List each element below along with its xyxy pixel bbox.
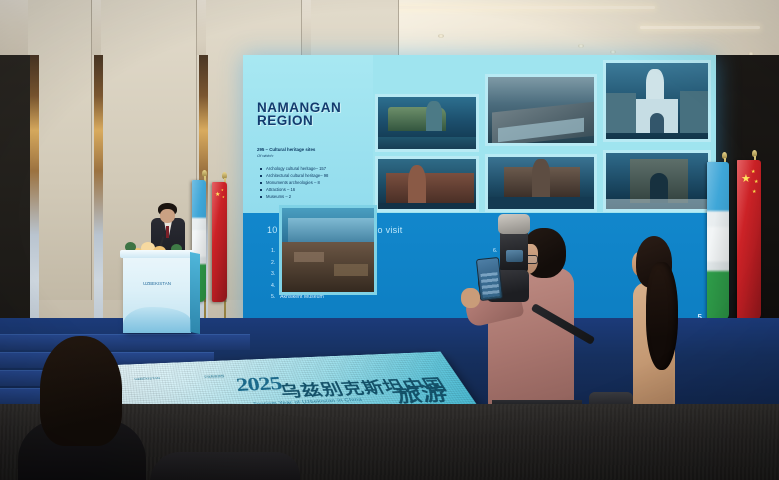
downlight-icon [578, 44, 584, 48]
heritage-photo [603, 60, 711, 142]
podium-wave-graphic [123, 307, 191, 333]
podium: UZBEKISTAN [123, 255, 191, 333]
china-flag: ★ ★ ★ ★ [737, 160, 761, 320]
downlight-icon [438, 34, 444, 38]
speaker-tie [166, 226, 169, 238]
podium-top [120, 250, 194, 258]
camera-phone-monitor [476, 257, 503, 301]
ceiling-light-slot [355, 6, 655, 9]
uzbekistan-flag [707, 162, 729, 320]
list-item: Archology cultural heritage– 157 [259, 165, 377, 172]
heritage-photo [603, 150, 711, 212]
wall-trim-strip [94, 55, 103, 345]
slide-bullet-list: Archology cultural heritage– 157 Archite… [259, 165, 377, 200]
podium-side-panel [190, 252, 200, 334]
podium-logo: UZBEKISTAN [133, 281, 181, 293]
downlight-icon [610, 50, 616, 54]
audience-member-body [150, 452, 300, 480]
slide-subtitle: 295 – Cultural heritage sites Of which: [257, 147, 373, 159]
slide-upper-section: NAMANGAN REGION 295 – Cultural heritage … [243, 55, 716, 213]
list-item: Attractions – 16 [259, 186, 377, 193]
woman-hair-ponytail [646, 262, 678, 370]
china-flag: ★ ★ ★ [212, 182, 227, 302]
excavation-photo [279, 205, 377, 295]
list-item: Monuments archeologies – 8 [259, 179, 377, 186]
ceiling-light-slot [640, 26, 760, 29]
photographer-hand [461, 288, 480, 308]
list-item: Architectural cultural heritage– 98 [259, 172, 377, 179]
heritage-photo [485, 154, 597, 212]
wall-trim-strip [30, 55, 39, 345]
list-item: Museums – 2 [259, 193, 377, 200]
speaker-head [158, 203, 177, 224]
audience-member-head [40, 336, 122, 446]
slide-photo-grid [375, 60, 713, 210]
flash-display [506, 250, 523, 262]
conference-photo-scene: NAMANGAN REGION 295 – Cultural heritage … [0, 0, 779, 480]
flash-head [498, 214, 530, 234]
heritage-photo [375, 156, 479, 212]
slide-left-pane: NAMANGAN REGION 295 – Cultural heritage … [243, 55, 373, 213]
heritage-photo [485, 74, 597, 146]
heritage-photo [375, 94, 479, 152]
wall-dark-left [0, 55, 30, 355]
slide-title: NAMANGAN REGION [257, 101, 377, 127]
